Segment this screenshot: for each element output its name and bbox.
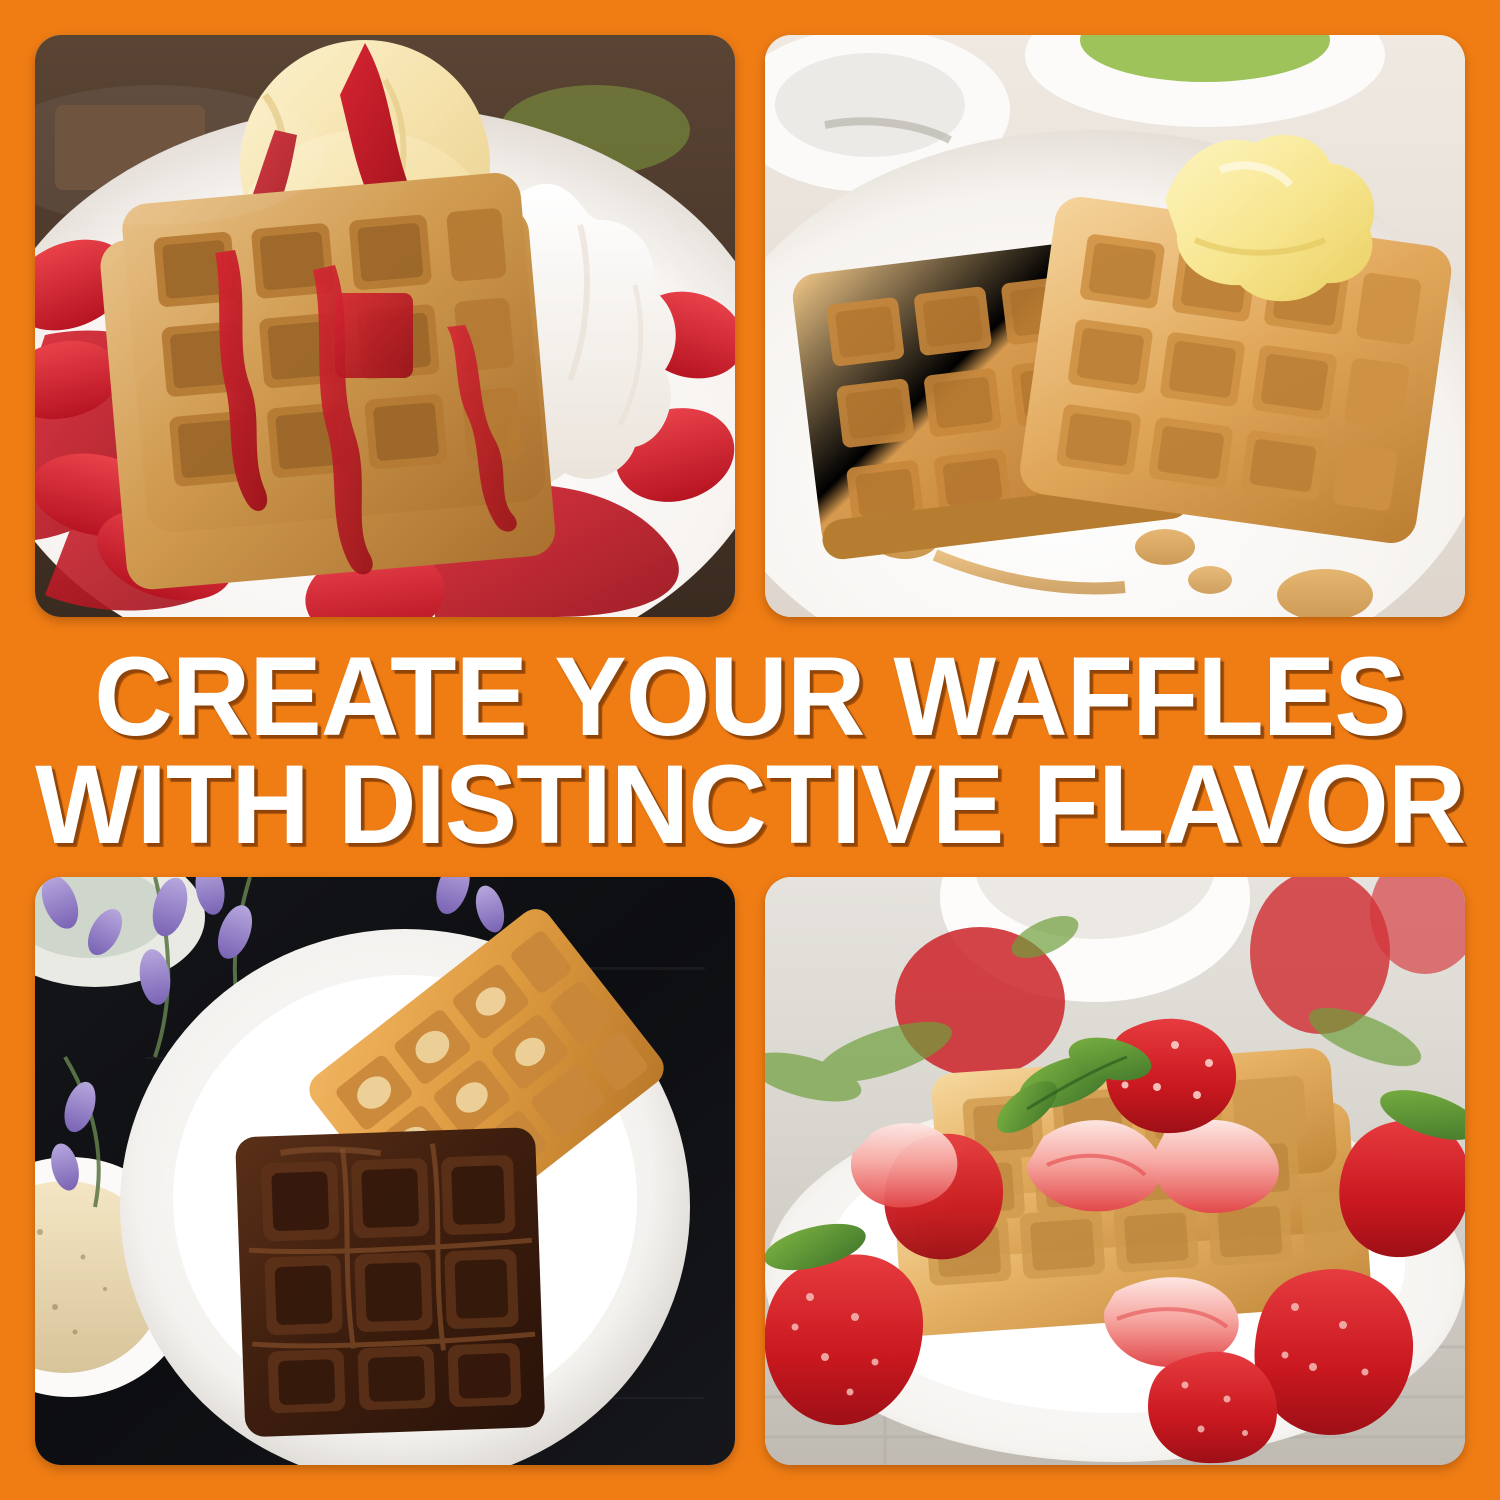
headline-line-2: WITH DISTINCTIVE FLAVOR xyxy=(35,751,1465,859)
tile-chocolate-and-plain-waffles xyxy=(35,877,735,1465)
product-banner: CREATE YOUR WAFFLES WITH DISTINCTIVE FLA… xyxy=(0,0,1500,1500)
strawberry-waffle-photo xyxy=(765,877,1465,1465)
headline-block: CREATE YOUR WAFFLES WITH DISTINCTIVE FLA… xyxy=(0,638,1500,863)
waffle-butter-photo xyxy=(765,35,1465,617)
chocolate-waffle-photo xyxy=(35,877,735,1465)
waffle-ice-cream-photo xyxy=(35,35,735,617)
headline-line-1: CREATE YOUR WAFFLES xyxy=(94,643,1405,751)
tile-waffles-with-butter xyxy=(765,35,1465,617)
tile-waffle-with-ice-cream xyxy=(35,35,735,617)
tile-waffles-with-strawberries xyxy=(765,877,1465,1465)
